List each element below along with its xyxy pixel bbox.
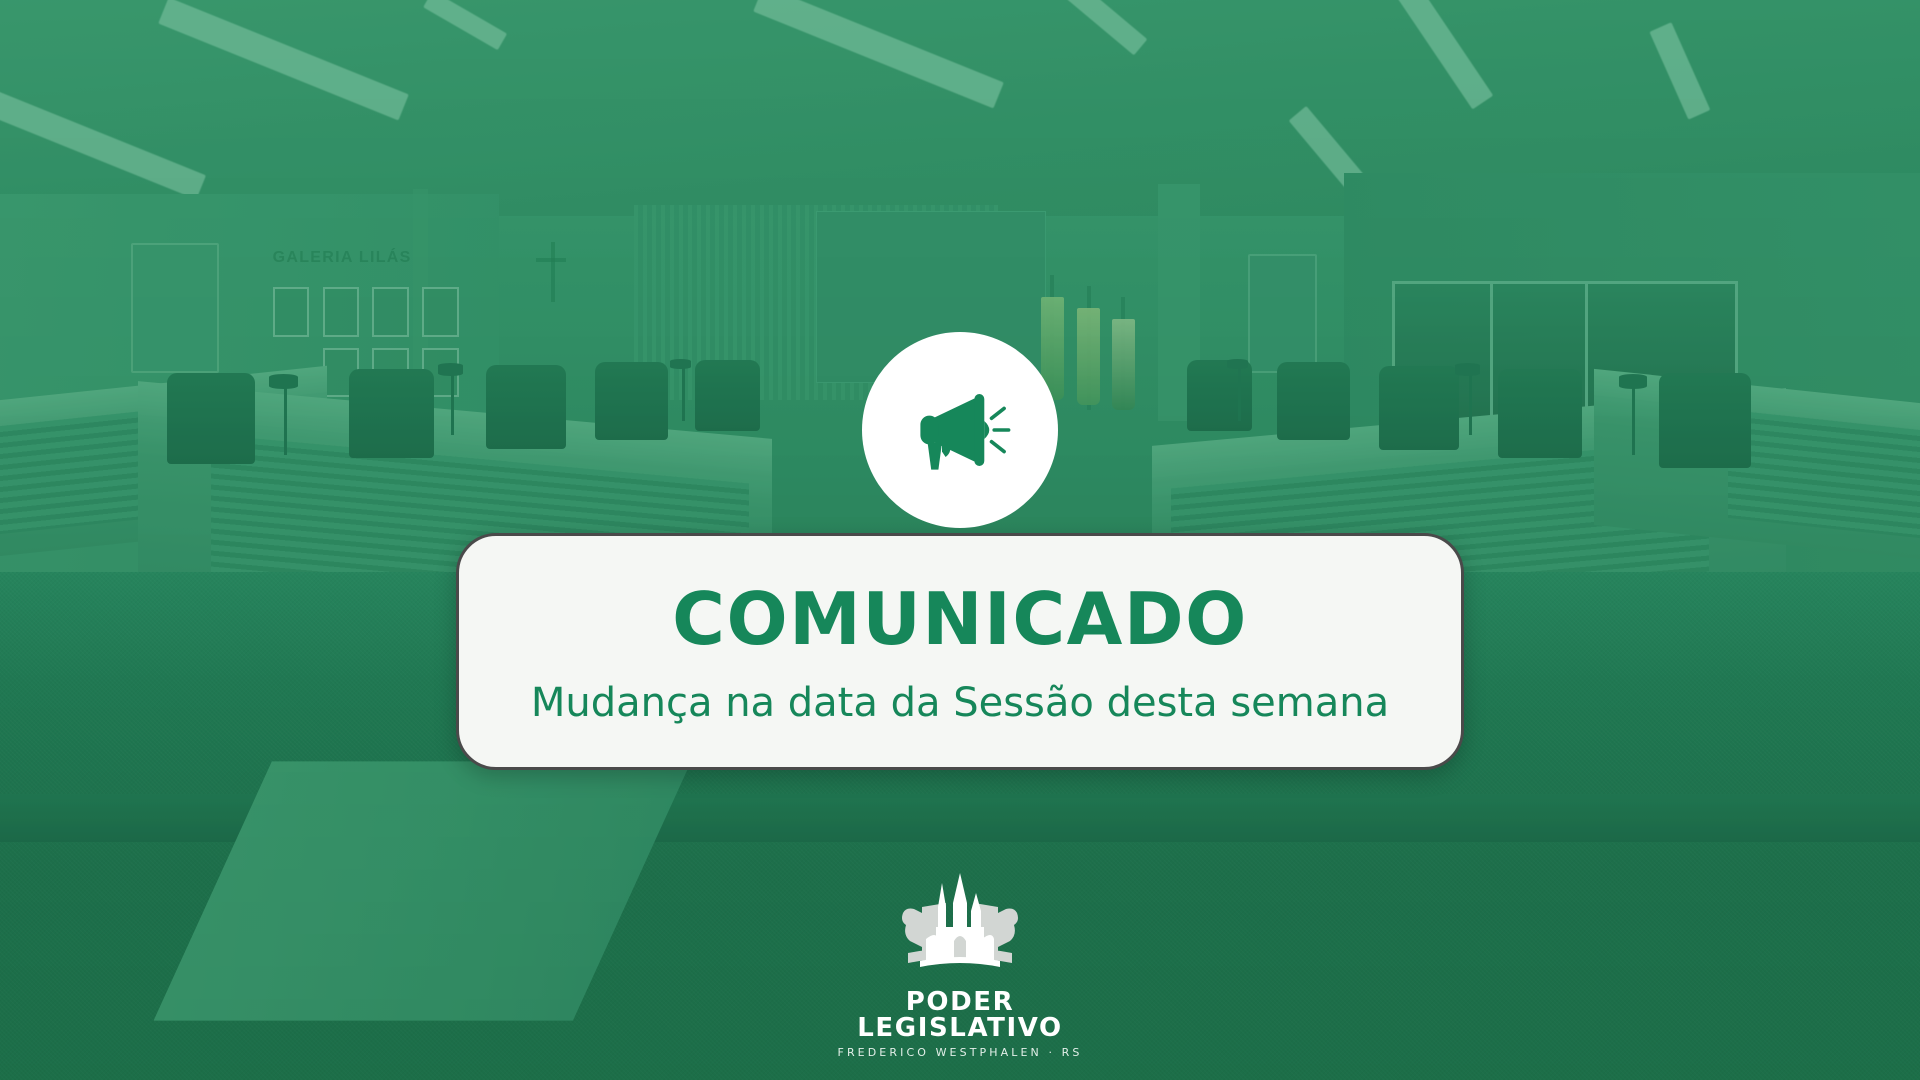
church-crest-icon	[870, 869, 1050, 987]
announcement-graphic: GALERIA LILÁS	[0, 0, 1920, 1080]
sound-wave-lines	[992, 408, 1009, 451]
brand-logo: PODER LEGISLATIVO FREDERICO WESTPHALEN ·…	[830, 869, 1090, 1058]
announcement-subtitle: Mudança na data da Sessão desta semana	[531, 681, 1389, 725]
announcement-card: COMUNICADO Mudança na data da Sessão des…	[456, 533, 1464, 770]
megaphone-icon	[906, 376, 1014, 484]
megaphone-badge	[862, 332, 1058, 528]
brand-location: FREDERICO WESTPHALEN · RS	[830, 1047, 1090, 1058]
brand-name: PODER LEGISLATIVO	[830, 989, 1090, 1041]
page-title: COMUNICADO	[672, 583, 1248, 655]
